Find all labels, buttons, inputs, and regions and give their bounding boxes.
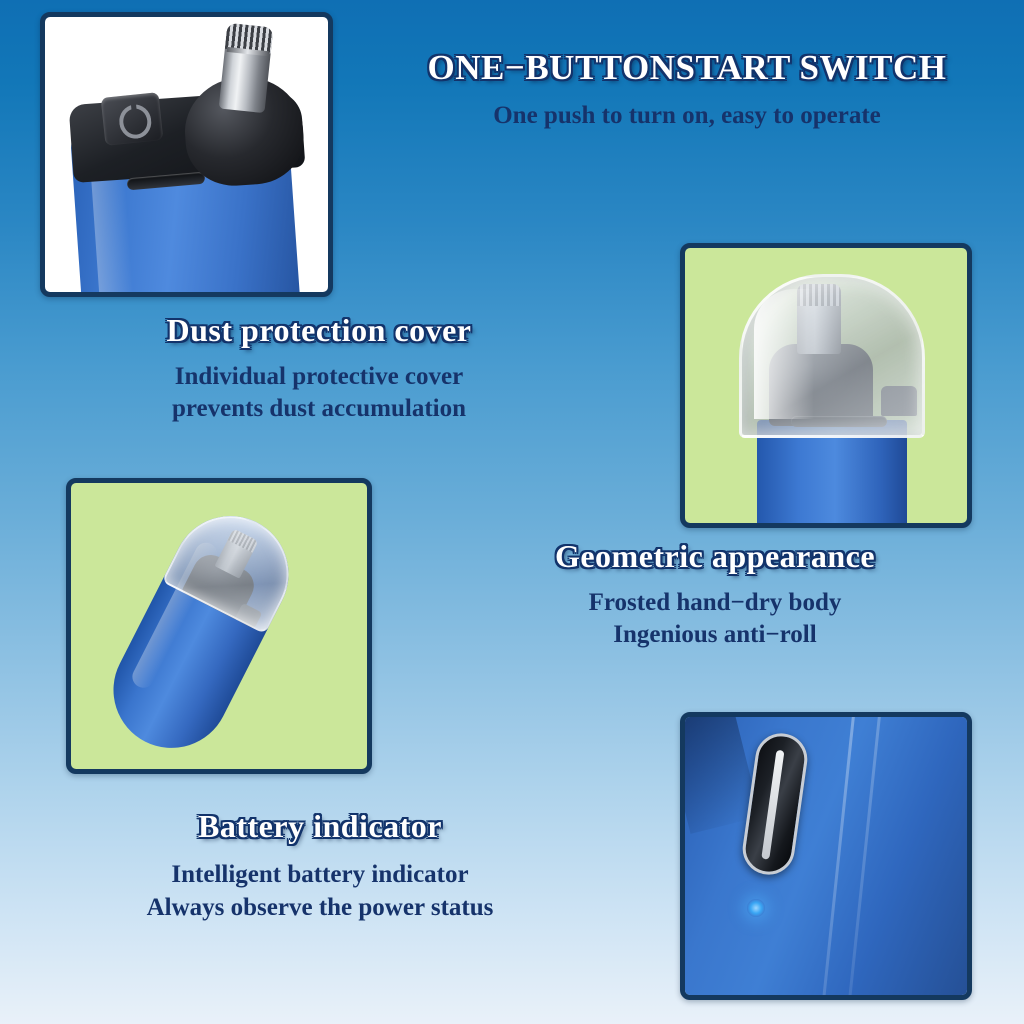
feature-text-dust-protection: Dust protection cover Individual protect… [94, 312, 544, 425]
feature-text-one-button: ONE−BUTTONSTART SWITCH One push to turn … [392, 48, 982, 130]
feature-subline: Individual protective cover [94, 361, 544, 393]
trimmer-device [93, 496, 308, 768]
product-infographic: { "background": { "gradient_top": "#0f6f… [0, 0, 1024, 1024]
power-button-icon [101, 92, 164, 146]
feature-subline: Frosted hand−dry body [480, 587, 950, 619]
feature-subline: Ingenious anti−roll [480, 619, 950, 651]
transparent-dust-cover [739, 274, 925, 438]
feature-headline: Battery indicator [70, 808, 570, 845]
feature-subline-group: Intelligent battery indicator Always obs… [70, 859, 570, 924]
trimmer-chrome-blade [219, 23, 274, 113]
feature-headline: Dust protection cover [94, 312, 544, 349]
product-image-panel-one-button [40, 12, 333, 297]
button-led-macro-illustration [685, 717, 967, 995]
feature-headline: ONE−BUTTONSTART SWITCH [392, 48, 982, 88]
feature-subline-group: Individual protective cover prevents dus… [94, 361, 544, 425]
trimmer-dustcover-illustration [685, 248, 967, 523]
feature-subline-group: Frosted hand−dry body Ingenious anti−rol… [480, 587, 950, 651]
battery-led-indicator [747, 899, 765, 917]
product-image-panel-switch-macro [680, 712, 972, 1000]
product-image-panel-geometric [680, 243, 972, 528]
feature-text-battery-indicator: Battery indicator Intelligent battery in… [70, 808, 570, 924]
feature-subline: One push to turn on, easy to operate [392, 102, 982, 130]
product-image-panel-battery [66, 478, 372, 774]
feature-text-geometric-appearance: Geometric appearance Frosted hand−dry bo… [480, 538, 950, 651]
feature-subline: prevents dust accumulation [94, 393, 544, 425]
trimmer-head-illustration [45, 17, 328, 292]
feature-subline: Intelligent battery indicator [70, 859, 570, 892]
full-device-illustration [71, 483, 367, 769]
feature-headline: Geometric appearance [480, 538, 950, 575]
feature-subline: Always observe the power status [70, 892, 570, 925]
